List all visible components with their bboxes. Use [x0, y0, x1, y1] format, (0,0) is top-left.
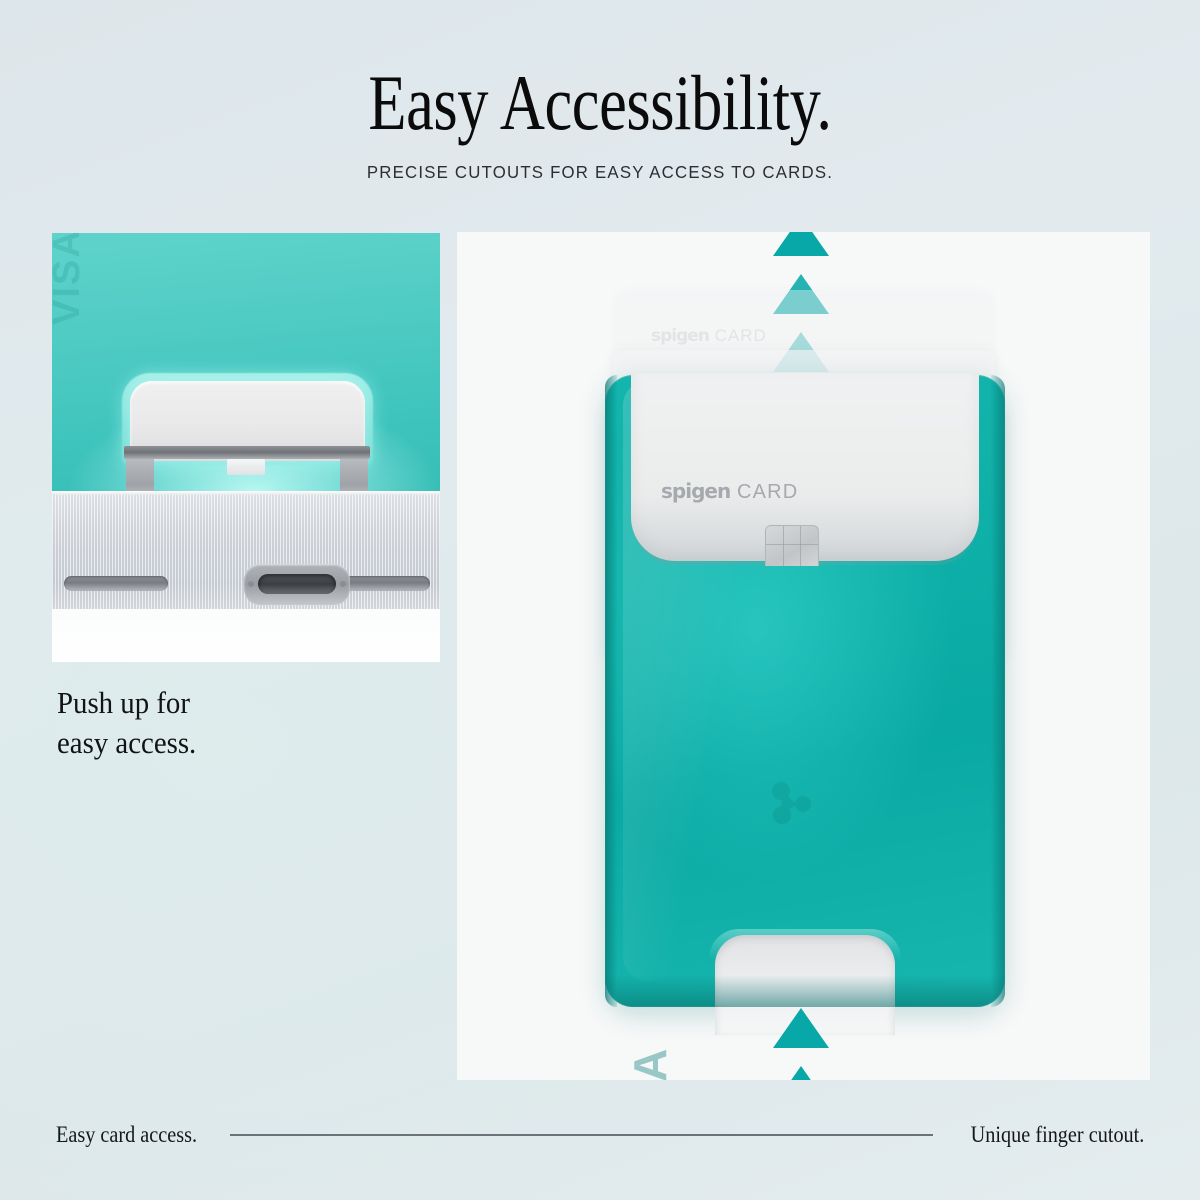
card-label-text: CARD	[737, 481, 798, 503]
visa-watermark-left: VISA	[52, 233, 89, 325]
card-shelf	[124, 446, 370, 459]
left-product-photo: VISA	[52, 233, 440, 662]
footer-right-label: Unique finger cutout.	[970, 1122, 1144, 1148]
card-chip-icon	[765, 525, 819, 566]
speaker-grille-left	[64, 576, 168, 591]
holder-edge-left	[605, 375, 617, 1007]
holder-edge-right	[991, 375, 1005, 1007]
card-label-text: CARD	[715, 326, 767, 345]
visa-watermark-main: VISA	[623, 1046, 677, 1080]
teal-card-holder: spigen CARD VISA	[605, 375, 1005, 1007]
shelf-tab	[227, 459, 265, 475]
arrow-up-icon	[773, 1008, 829, 1048]
page-title: Easy Accessibility.	[120, 0, 1080, 140]
footer-left-label: Easy card access.	[56, 1122, 197, 1148]
footer: Easy card access. Unique finger cutout.	[0, 1122, 1200, 1148]
arrow-up-icon	[773, 1066, 829, 1080]
header: Easy Accessibility. PRECISE CUTOUTS FOR …	[0, 0, 1200, 183]
photo-floor	[52, 609, 440, 662]
card-label: spigen CARD	[661, 479, 798, 504]
footer-divider	[230, 1134, 932, 1136]
page-subtitle: PRECISE CUTOUTS FOR EASY ACCESS TO CARDS…	[24, 140, 1176, 183]
holder-bottom-shadow	[605, 975, 1005, 1007]
arrow-up-icon	[773, 232, 829, 256]
left-caption: Push up for easy access.	[57, 683, 196, 762]
main-product-photo: spigen CARD spigen CARD spigen CARD	[457, 232, 1150, 1080]
usb-plate-screw-left	[248, 581, 254, 587]
spigen-wordmark: spigen	[661, 479, 730, 503]
usb-plate-screw-right	[340, 581, 346, 587]
card-label: spigen CARD	[651, 326, 767, 346]
usb-c-port	[258, 574, 336, 594]
spigen-logo-icon	[767, 779, 819, 831]
spigen-wordmark: spigen	[651, 326, 709, 346]
marketing-page: Easy Accessibility. PRECISE CUTOUTS FOR …	[0, 0, 1200, 1200]
